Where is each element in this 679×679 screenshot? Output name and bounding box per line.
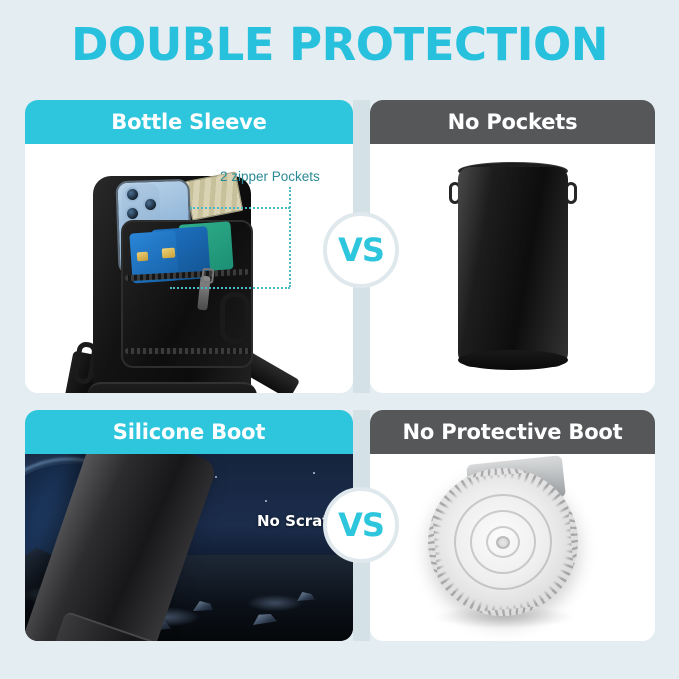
card-chip-icon	[162, 248, 176, 259]
annotation-leader-vertical	[289, 187, 291, 287]
camera-lens-icon	[125, 187, 140, 202]
panel-body-no-protective-boot	[370, 454, 655, 641]
panel-no-protective-boot: No Protective Boot	[370, 410, 655, 641]
panel-body-no-pockets	[370, 144, 655, 393]
annotation-leader-top	[190, 207, 290, 209]
bottom-center-dimple	[496, 536, 510, 549]
plain-sleeve-base	[458, 350, 568, 370]
annotation-leader-bottom	[170, 287, 290, 289]
panel-header-no-protective-boot: No Protective Boot	[370, 410, 655, 454]
panel-header-bottle-sleeve: Bottle Sleeve	[25, 100, 353, 144]
panel-header-silicone-boot: Silicone Boot	[25, 410, 353, 454]
star-icon	[265, 500, 267, 502]
card-chip-icon	[137, 252, 149, 262]
scratched-bottom-photo	[370, 454, 655, 641]
page-title: DOUBLE PROTECTION	[0, 18, 679, 71]
vs-badge-top: VS	[323, 212, 399, 288]
plain-sleeve-photo	[370, 144, 655, 393]
panel-silicone-boot: Silicone Boot No Scratch	[25, 410, 353, 641]
sleeve-base	[87, 382, 257, 393]
panel-no-pockets: No Pockets	[370, 100, 655, 393]
annotation-zipper-pockets: 2 zipper Pockets	[220, 169, 320, 184]
panel-header-no-pockets: No Pockets	[370, 100, 655, 144]
star-icon	[313, 472, 315, 474]
camera-lens-icon	[125, 206, 140, 221]
d-ring-attachment	[220, 292, 250, 344]
vs-badge-bottom: VS	[323, 487, 399, 563]
plain-sleeve-body	[458, 167, 568, 367]
vs-label: VS	[338, 506, 384, 544]
panel-bottle-sleeve: Bottle Sleeve	[25, 100, 353, 393]
silicone-boot-photo: No Scratch	[25, 454, 353, 641]
zipper-track-lower	[125, 348, 251, 354]
panel-body-silicone-boot: No Scratch	[25, 454, 353, 641]
camera-lens-icon	[143, 197, 158, 212]
vs-label: VS	[338, 231, 384, 269]
star-icon	[215, 476, 217, 478]
